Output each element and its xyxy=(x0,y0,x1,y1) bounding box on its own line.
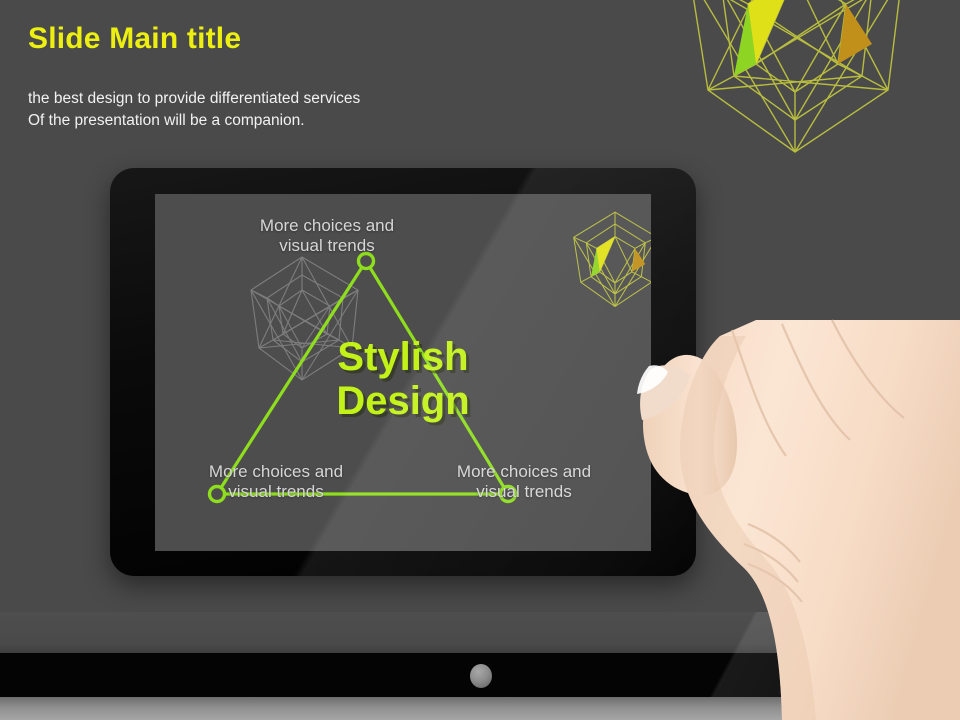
page-title: Slide Main title xyxy=(28,22,241,56)
triangle-label-bottom-right: More choices and visual trends xyxy=(413,462,635,502)
slide-subtitle: the best design to provide differentiate… xyxy=(28,88,360,132)
triangle-label-top: More choices and visual trends xyxy=(212,216,442,256)
presentation-slide: Slide Main title the best design to prov… xyxy=(0,0,960,720)
sphere-face-green xyxy=(734,4,756,76)
tablet-screen[interactable]: More choices and visual trends More choi… xyxy=(155,194,651,551)
tablet-device[interactable]: More choices and visual trends More choi… xyxy=(110,168,696,576)
sphere-face-yellow xyxy=(748,0,795,64)
triangle-label-bottom-left: More choices and visual trends xyxy=(168,462,384,502)
home-button[interactable] xyxy=(470,664,492,688)
sphere-face-ochre xyxy=(838,4,872,64)
diagram-center-text: Stylish Design xyxy=(283,335,523,423)
hand-holding-tablet xyxy=(636,318,960,720)
